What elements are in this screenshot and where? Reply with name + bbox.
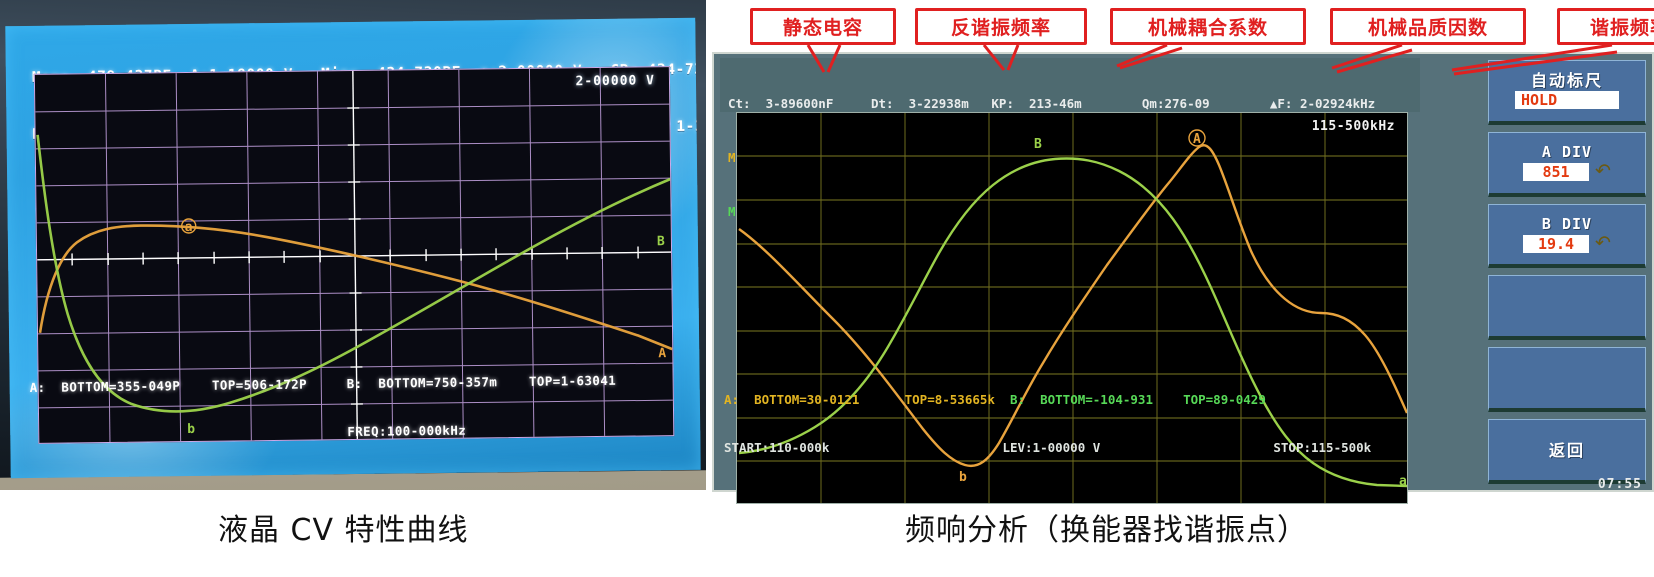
analyzer-screen: Ct: 3-89600nF Dt: 3-22938m KP: 213-46m Q… — [712, 52, 1654, 492]
footer-a-left: A: BOTTOM=30-0121 TOP=8-53665k — [724, 392, 1010, 407]
screenshot-root: Max= 479-437PF A:1-18000 V Min= 434-730P… — [0, 0, 1654, 577]
analyzer-header-line-1: Ct: 3-89600nF Dt: 3-22938m KP: 213-46m Q… — [728, 95, 1420, 113]
right-instrument-screen: 静态电容 反谐振频率 机械耦合系数 机械品质因数 谐振频率 Ct: 3-8960… — [712, 0, 1654, 492]
softkey-auto-scale[interactable]: 自动标尺 HOLD — [1488, 60, 1646, 125]
rotary-knob-icon: ↶ — [1595, 234, 1611, 253]
lcd-left-footer-line-1: A: BOTTOM=355-049P TOP=506-172P B: BOTTO… — [30, 372, 701, 396]
callout-mechanical-q-factor: 机械品质因数 — [1330, 8, 1526, 45]
caption-right: 频响分析（换能器找谐振点） — [905, 505, 1308, 549]
clock-display: 07:55 — [1598, 477, 1642, 492]
footer-a-right: B: BOTTOM=-104-931 TOP=89-0429 — [1010, 392, 1266, 407]
lcd-left-footer-line-2: FREQ:100-000kHz STOP:2-00000 — [30, 420, 701, 444]
softkey-a-div[interactable]: A DIV 851 ↶ — [1488, 132, 1646, 197]
lcd-screen-left: Max= 479-437PF A:1-18000 V Min= 434-730P… — [5, 18, 700, 478]
left-instrument-photo: Max= 479-437PF A:1-18000 V Min= 434-730P… — [0, 0, 706, 490]
callout-coupling-coefficient: 机械耦合系数 — [1110, 8, 1306, 45]
softkey-empty-2[interactable] — [1488, 347, 1646, 412]
softkey-return-label: 返回 — [1549, 442, 1585, 459]
analyzer-footer-line-a: A: BOTTOM=30-0121 TOP=8-53665k B: BOTTOM… — [724, 392, 1424, 408]
right-plot-stop-frequency-label: 115-500kHz — [1312, 119, 1395, 134]
softkey-empty-1[interactable] — [1488, 275, 1646, 340]
softkey-a-div-value[interactable]: 851 — [1523, 163, 1589, 181]
caption-left: 液晶 CV 特性曲线 — [218, 505, 469, 549]
analyzer-footer-line-b: START:110-000k LEV:1-00000 V STOP:115-50… — [724, 440, 1424, 456]
softkey-auto-scale-value[interactable]: HOLD — [1515, 91, 1619, 109]
lcd-left-footer: A: BOTTOM=355-049P TOP=506-172P B: BOTTO… — [29, 340, 701, 476]
analyzer-header: Ct: 3-89600nF Dt: 3-22938m KP: 213-46m Q… — [720, 58, 1420, 112]
marker-B-right: B — [1034, 137, 1042, 152]
softkey-b-div-value[interactable]: 19.4 — [1523, 235, 1589, 253]
softkey-a-div-label: A DIV — [1542, 144, 1592, 161]
marker-B-left: B — [657, 234, 665, 249]
softkey-return[interactable]: 返回 — [1488, 419, 1646, 484]
softkey-b-div-label: B DIV — [1542, 216, 1592, 233]
softkey-auto-scale-label: 自动标尺 — [1531, 72, 1603, 89]
callout-antiresonance-frequency: 反谐振频率 — [915, 8, 1087, 45]
rotary-knob-icon: ↶ — [1595, 162, 1611, 181]
callout-resonance-frequency: 谐振频率 — [1557, 8, 1654, 45]
left-plot-scale-label: 2-00000 V — [575, 73, 655, 89]
analyzer-footer: A: BOTTOM=30-0121 TOP=8-53665k B: BOTTOM… — [724, 360, 1424, 488]
callout-static-capacitance: 静态电容 — [750, 8, 896, 45]
softkey-column: 自动标尺 HOLD A DIV 851 ↶ B DIV 19.4 ↶ — [1488, 60, 1646, 484]
softkey-b-div[interactable]: B DIV 19.4 ↶ — [1488, 204, 1646, 269]
